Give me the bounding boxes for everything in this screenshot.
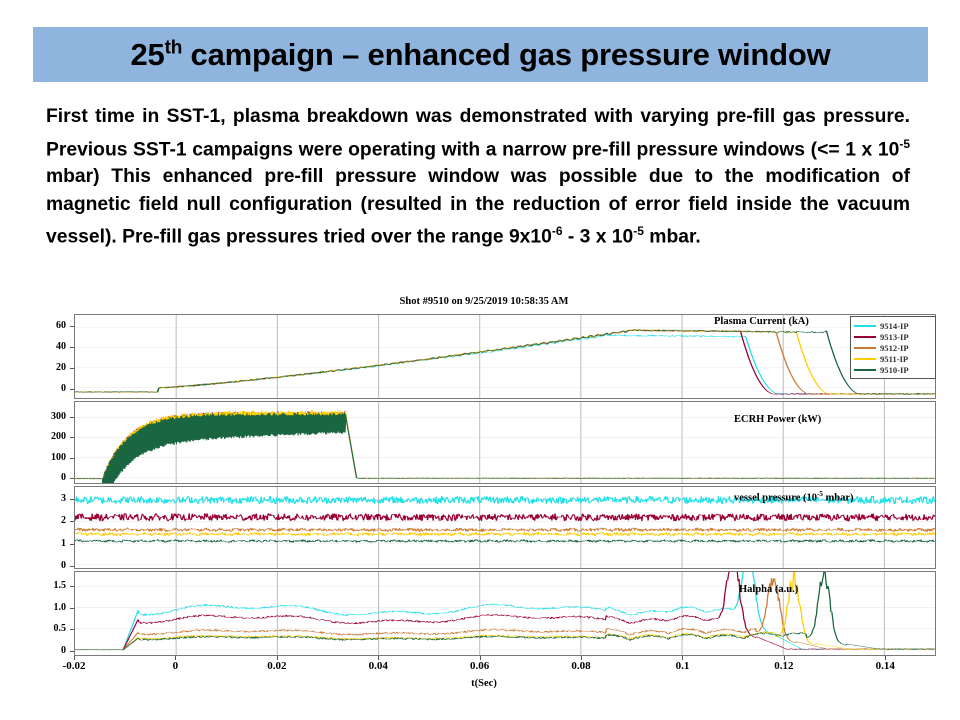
- body-exponent-3: -5: [633, 224, 644, 238]
- body-exponent-2: -6: [552, 224, 563, 238]
- x-tick-label: 0.1: [652, 660, 712, 672]
- y-tick-label: 1: [26, 538, 66, 549]
- y-tick-label: 0: [26, 560, 66, 571]
- x-tick-mark: [784, 656, 785, 660]
- y-tick-mark: [70, 478, 74, 479]
- legend-label: 9511-IP: [880, 354, 908, 364]
- body-part-2: mbar) This enhanced pre-fill pressure wi…: [46, 166, 910, 247]
- y-tick-label: 1.0: [26, 602, 66, 613]
- x-tick-mark: [682, 656, 683, 660]
- y-tick-mark: [70, 629, 74, 630]
- panel-label-ecrh-power: ECRH Power (kW): [734, 414, 821, 425]
- legend-item[interactable]: 9513-IP: [854, 331, 932, 342]
- x-tick-mark: [480, 656, 481, 660]
- x-tick-label: 0.02: [247, 660, 307, 672]
- figure-title: Shot #9510 on 9/25/2019 10:58:35 AM: [26, 296, 942, 307]
- y-tick-mark: [70, 368, 74, 369]
- chart-legend: 9514-IP9513-IP9512-IP9511-IP9510-IP: [850, 316, 936, 379]
- y-tick-mark: [70, 437, 74, 438]
- slide-root: 25th campaign – enhanced gas pressure wi…: [0, 0, 960, 720]
- legend-item[interactable]: 9514-IP: [854, 320, 932, 331]
- y-tick-label: 3: [26, 493, 66, 504]
- legend-color-swatch: [854, 336, 876, 338]
- slide-title-bar: 25th campaign – enhanced gas pressure wi…: [33, 27, 928, 82]
- x-tick-mark: [885, 656, 886, 660]
- x-tick-mark: [277, 656, 278, 660]
- y-tick-mark: [70, 499, 74, 500]
- y-tick-mark: [70, 586, 74, 587]
- label-pre: vessel pressure (10: [734, 493, 817, 504]
- x-tick-mark: [74, 656, 75, 660]
- legend-item[interactable]: 9511-IP: [854, 353, 932, 364]
- legend-item[interactable]: 9512-IP: [854, 342, 932, 353]
- x-tick-label: 0.04: [348, 660, 408, 672]
- y-tick-label: 1.5: [26, 580, 66, 591]
- title-prefix: 25: [131, 37, 165, 72]
- label-post: mbar): [823, 493, 854, 504]
- y-tick-label: 300: [26, 411, 66, 422]
- x-tick-mark: [378, 656, 379, 660]
- x-tick-label: 0.12: [754, 660, 814, 672]
- y-tick-mark: [70, 458, 74, 459]
- legend-color-swatch: [854, 347, 876, 349]
- y-tick-label: 0.5: [26, 623, 66, 634]
- y-tick-mark: [70, 521, 74, 522]
- panel-halpha: [74, 571, 936, 656]
- legend-label: 9510-IP: [880, 365, 909, 375]
- body-part-3: - 3 x 10: [563, 227, 634, 248]
- x-tick-mark: [175, 656, 176, 660]
- body-exponent-1: -5: [899, 137, 910, 151]
- y-tick-mark: [70, 566, 74, 567]
- legend-color-swatch: [854, 325, 876, 327]
- panel-label-halpha: Halpha (a.u.): [739, 584, 798, 595]
- legend-color-swatch: [854, 358, 876, 360]
- y-tick-label: 0: [26, 472, 66, 483]
- legend-item[interactable]: 9510-IP: [854, 364, 932, 375]
- y-tick-mark: [70, 417, 74, 418]
- panel-label-vessel-pressure: vessel pressure (10-5 mbar): [734, 490, 854, 504]
- title-ordinal-suffix: th: [165, 37, 183, 58]
- y-tick-label: 200: [26, 431, 66, 442]
- figure-container: Shot #9510 on 9/25/2019 10:58:35 AM 9514…: [26, 296, 942, 706]
- y-tick-mark: [70, 326, 74, 327]
- y-tick-label: 100: [26, 452, 66, 463]
- body-part-4: mbar.: [644, 227, 701, 248]
- x-tick-label: 0.08: [551, 660, 611, 672]
- body-part-1: First time in SST-1, plasma breakdown wa…: [46, 106, 910, 160]
- y-tick-label: 40: [26, 341, 66, 352]
- y-tick-mark: [70, 544, 74, 545]
- x-tick-label: -0.02: [44, 660, 104, 672]
- x-tick-label: 0: [145, 660, 205, 672]
- y-tick-mark: [70, 347, 74, 348]
- legend-color-swatch: [854, 369, 876, 371]
- y-tick-label: 60: [26, 320, 66, 331]
- legend-label: 9514-IP: [880, 321, 909, 331]
- panel-label-plasma-current: Plasma Current (kA): [714, 316, 809, 327]
- page-title: 25th campaign – enhanced gas pressure wi…: [131, 37, 831, 73]
- y-tick-label: 20: [26, 362, 66, 373]
- y-tick-mark: [70, 608, 74, 609]
- y-tick-label: 2: [26, 515, 66, 526]
- x-tick-label: 0.06: [450, 660, 510, 672]
- y-tick-mark: [70, 389, 74, 390]
- legend-label: 9513-IP: [880, 332, 909, 342]
- y-tick-mark: [70, 651, 74, 652]
- y-tick-label: 0: [26, 383, 66, 394]
- x-tick-label: 0.14: [855, 660, 915, 672]
- x-tick-mark: [581, 656, 582, 660]
- title-rest: campaign – enhanced gas pressure window: [182, 37, 830, 72]
- x-axis-label: t(Sec): [26, 678, 942, 689]
- body-paragraph: First time in SST-1, plasma breakdown wa…: [46, 103, 910, 251]
- legend-label: 9512-IP: [880, 343, 909, 353]
- y-tick-label: 0: [26, 645, 66, 656]
